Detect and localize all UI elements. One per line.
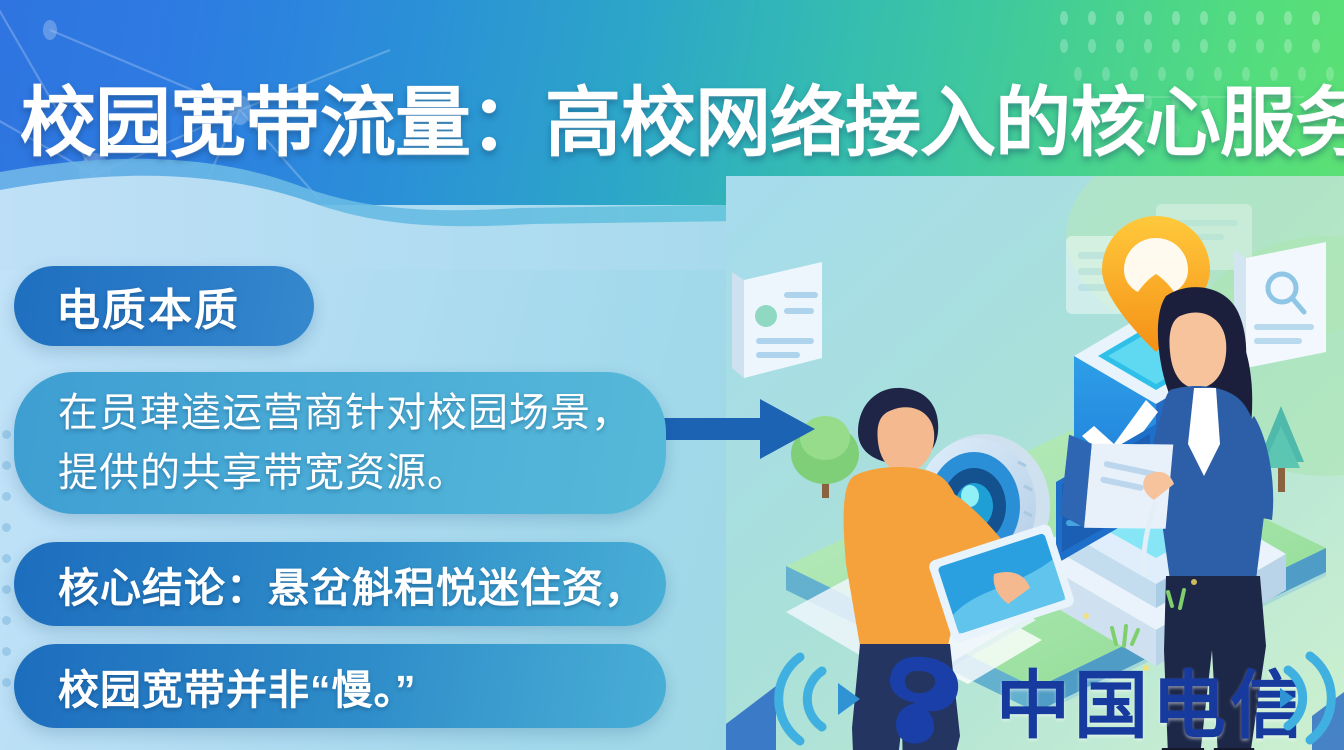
definition-line-2: 提供的共享带宽资源。 <box>58 443 632 503</box>
definition-card[interactable]: 在员珒逵运营商针对校园场景， 提供的共享带宽资源。 <box>14 372 666 514</box>
conclusion-label: 核心结论：悬岔斛稆悦迷住资， <box>58 554 646 614</box>
essence-badge[interactable]: 电质本质 <box>14 266 314 346</box>
telecom-signal-wave-icon <box>760 649 990 749</box>
note-card[interactable]: 校园宽带并非“慢。” <box>14 644 666 728</box>
definition-line-1: 在员珒逵运营商针对校园场景， <box>58 383 632 443</box>
essence-badge-label: 电质本质 <box>56 274 240 338</box>
right-arrow-icon <box>664 398 816 460</box>
conclusion-card[interactable]: 核心结论：悬岔斛稆悦迷住资， <box>14 542 666 626</box>
china-telecom-logo: 中国电信 <box>760 648 1344 750</box>
logo-text: 中国电信 <box>996 646 1308 750</box>
telecom-signal-wave-right-icon <box>1280 648 1344 748</box>
page-title: 校园宽带流量：高校网络接入的核心服务 <box>20 72 1330 176</box>
poster-canvas: 校园宽带流量：高校网络接入的核心服务 <box>0 0 1344 750</box>
note-label: 校园宽带并非“慢。” <box>58 656 417 716</box>
